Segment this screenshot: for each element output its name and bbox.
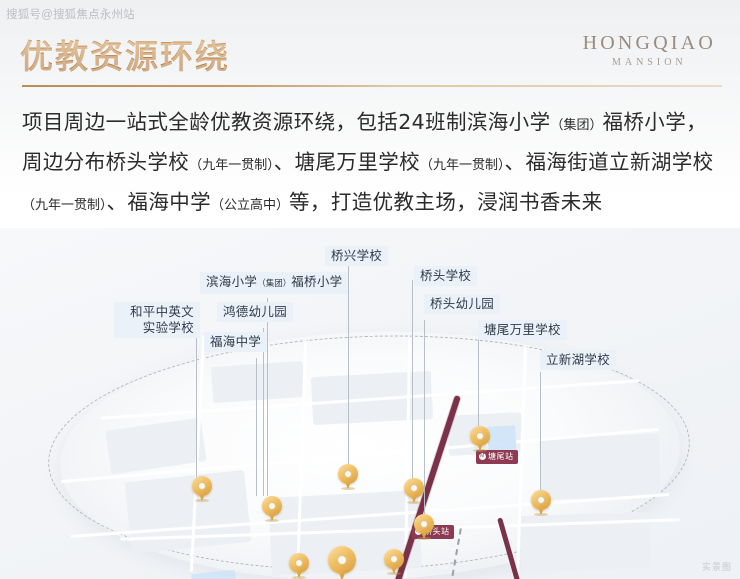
copy-note-5: （公立高中） bbox=[211, 198, 289, 213]
label-tangwei-wanli-school: 塘尾万里学校 bbox=[478, 320, 567, 340]
copy-note-2: （九年一贯制） bbox=[189, 158, 274, 173]
copy-note-1: （集团） bbox=[550, 118, 602, 133]
sohu-watermark: 搜狐号@搜狐焦点永州站 bbox=[6, 6, 135, 22]
pin-dot bbox=[198, 482, 206, 490]
pin-base bbox=[341, 487, 355, 490]
slide-root: 搜狐号@搜狐焦点永州站 优教资源环绕 HONGQIAO MANSION 项目周边… bbox=[0, 0, 740, 579]
map-pin-heping[interactable] bbox=[192, 476, 212, 503]
leader-line-hongde bbox=[263, 328, 264, 496]
pin-base bbox=[265, 519, 279, 522]
pin-dot bbox=[420, 520, 428, 528]
metro-icon: M bbox=[479, 453, 486, 460]
copy-note-4: （九年一贯制） bbox=[22, 198, 107, 213]
pin-base bbox=[195, 499, 209, 502]
copy-note-3: （九年一贯制） bbox=[420, 158, 505, 173]
leader-line-fuhai bbox=[256, 358, 257, 496]
label-lixinhu-school: 立新湖学校 bbox=[540, 350, 616, 370]
pin-dot bbox=[344, 470, 352, 478]
copy-seg-6: 等，打造优教主场，浸润书香未来 bbox=[289, 190, 603, 214]
label-heping-school: 和平中英文实验学校 bbox=[114, 302, 200, 338]
copy-seg-5: 、福海中学 bbox=[107, 190, 212, 214]
map-block bbox=[539, 434, 661, 500]
leader-line-qiaotou-yey bbox=[424, 320, 425, 514]
copy-seg-3: 、塘尾万里学校 bbox=[274, 150, 420, 174]
map-pin-qiaoxing[interactable] bbox=[338, 464, 358, 491]
brand-name-en: HONGQIAO bbox=[583, 32, 716, 54]
label-fuhai-middle-school: 福海中学 bbox=[204, 332, 267, 352]
label-binhai-primary: 滨海小学（集团）福桥小学 bbox=[200, 272, 348, 294]
map-pin-lixinhu[interactable] bbox=[531, 490, 551, 517]
label-text-b: （集团） bbox=[257, 279, 291, 289]
header-divider bbox=[22, 85, 722, 87]
brand-logo: HONGQIAO MANSION bbox=[583, 32, 716, 68]
pin-base bbox=[534, 513, 548, 516]
label-qiaoxing-school: 桥兴学校 bbox=[325, 246, 388, 266]
pin-base bbox=[417, 537, 431, 540]
map-pin-qiaotou-kindergarten[interactable] bbox=[414, 514, 434, 541]
label-qiaotou-kindergarten: 桥头幼儿园 bbox=[424, 294, 500, 314]
leader-line-tangwei bbox=[478, 340, 479, 426]
brand-subtitle-en: MANSION bbox=[583, 57, 716, 68]
leader-line-qiaotou-xx bbox=[412, 280, 413, 478]
map-pin-qiaotou-school[interactable] bbox=[404, 478, 424, 505]
map-pin-project-site[interactable] bbox=[328, 546, 356, 579]
pin-dot bbox=[268, 502, 276, 510]
pin-dot bbox=[410, 484, 418, 492]
leader-line-heping bbox=[196, 336, 197, 478]
copy-seg-4: 、福海街道立新湖学校 bbox=[505, 150, 714, 174]
label-hongde-kindergarten: 鸿德幼儿园 bbox=[217, 302, 293, 322]
label-text-a: 滨海小学 bbox=[206, 274, 257, 289]
pin-dot bbox=[390, 555, 398, 563]
page-title: 优教资源环绕 bbox=[20, 30, 230, 78]
map-pin-tangwei[interactable] bbox=[470, 426, 490, 453]
pin-dot bbox=[476, 432, 484, 440]
pin-dot bbox=[537, 496, 545, 504]
pin-base bbox=[473, 449, 487, 452]
pin-base bbox=[387, 572, 401, 575]
location-map: M 塘尾站 M 桥头站 和平中英文实验学校 滨海小学（集团）福桥小学 鸿德幼儿园… bbox=[0, 228, 740, 579]
photo-disclaimer: 实景图 bbox=[702, 560, 732, 573]
map-block bbox=[125, 470, 252, 554]
map-pin-hongde[interactable] bbox=[262, 496, 282, 523]
label-qiaotou-school: 桥头学校 bbox=[414, 266, 477, 286]
pin-dot bbox=[337, 555, 347, 565]
map-pin-extra-east[interactable] bbox=[384, 549, 404, 576]
copy-seg-1: 项目周边一站式全龄优教资源环绕，包括24班制滨海小学 bbox=[22, 110, 550, 134]
map-water bbox=[191, 570, 237, 579]
pin-base bbox=[407, 501, 421, 504]
pin-dot bbox=[295, 559, 303, 567]
station-label: 塘尾站 bbox=[488, 451, 514, 462]
label-text-c: 福桥小学 bbox=[291, 274, 342, 289]
map-block bbox=[211, 361, 305, 403]
body-copy: 项目周边一站式全龄优教资源环绕，包括24班制滨海小学（集团）福桥小学，周边分布桥… bbox=[22, 104, 722, 224]
map-pin-fuhai[interactable] bbox=[289, 553, 309, 579]
leader-line-lixinhu bbox=[540, 372, 541, 490]
leader-line-binhai bbox=[267, 298, 268, 496]
